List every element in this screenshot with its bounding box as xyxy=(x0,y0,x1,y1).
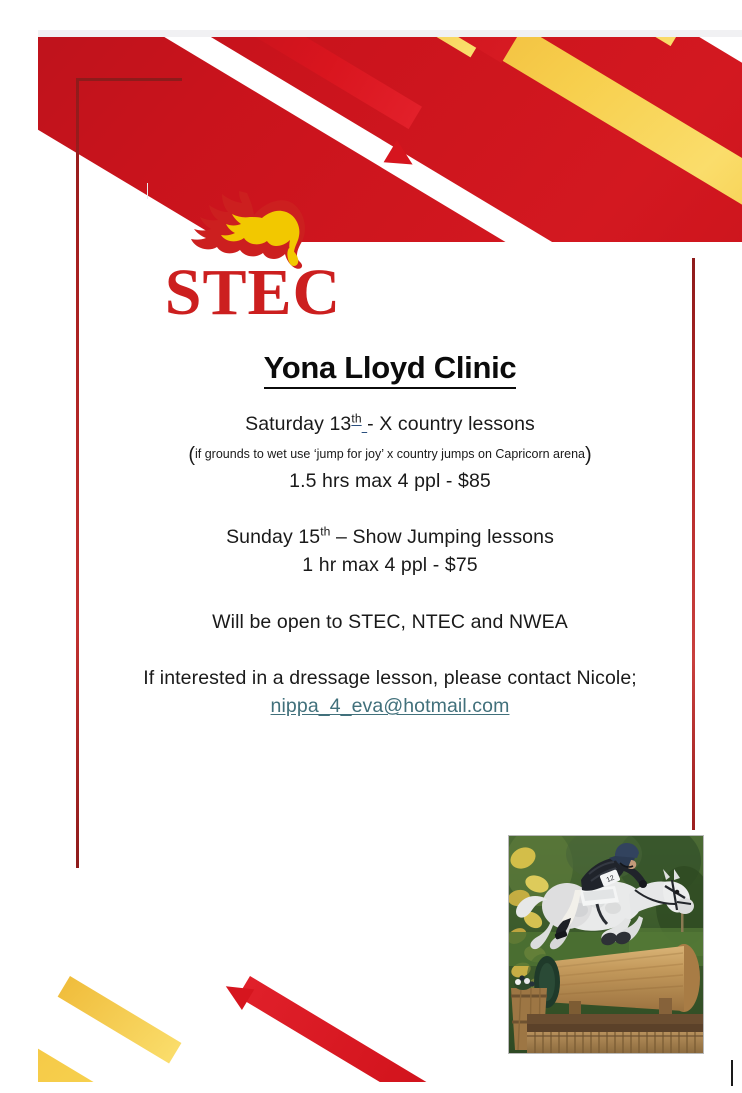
sunday-prefix: Sunday 15 xyxy=(226,526,320,548)
saturday-suffix: - X country lessons xyxy=(367,413,535,435)
screenshot-viewport: STEC Yona Lloyd Clinic Saturday 13th - X… xyxy=(0,0,742,1093)
flyer-page: STEC Yona Lloyd Clinic Saturday 13th - X… xyxy=(38,30,742,1082)
flyer-content: STEC Yona Lloyd Clinic Saturday 13th - X… xyxy=(38,30,742,1082)
sunday-ordinal: th xyxy=(320,525,330,539)
saturday-prefix: Saturday 13 xyxy=(245,413,351,435)
page-title: Yona Lloyd Clinic xyxy=(38,350,742,386)
paren-open: ( xyxy=(188,444,195,466)
contact-email-line: nippa_4_eva@hotmail.com xyxy=(38,695,742,718)
saturday-session-line: Saturday 13th - X country lessons xyxy=(38,413,742,436)
contact-line: If interested in a dressage lesson, plea… xyxy=(38,667,742,690)
stec-logo: STEC xyxy=(150,188,356,322)
page-title-text: Yona Lloyd Clinic xyxy=(264,350,517,389)
sunday-price-line: 1 hr max 4 ppl - $75 xyxy=(38,554,742,577)
paren-close: ) xyxy=(585,444,592,466)
wet-grounds-note: (if grounds to wet use ‘jump for joy’ x … xyxy=(38,444,742,467)
bamboo-fence xyxy=(527,1032,703,1053)
sunday-suffix: – Show Jumping lessons xyxy=(331,526,554,548)
saturday-ordinal: th xyxy=(351,412,361,426)
contact-email-link[interactable]: nippa_4_eva@hotmail.com xyxy=(271,695,510,717)
eligibility-line: Will be open to STEC, NTEC and NWEA xyxy=(38,611,742,634)
saturday-price-line: 1.5 hrs max 4 ppl - $85 xyxy=(38,470,742,493)
svg-text:STEC: STEC xyxy=(165,256,341,322)
photo-illustration: 12 xyxy=(509,836,703,1053)
text-cursor-caret xyxy=(731,1060,733,1086)
wet-grounds-note-text: if grounds to wet use ‘jump for joy’ x c… xyxy=(195,447,585,461)
cross-country-jump-photo: 12 xyxy=(508,835,704,1054)
sunday-session-line: Sunday 15th – Show Jumping lessons xyxy=(38,526,742,549)
horse-head-icon: STEC xyxy=(150,188,356,322)
